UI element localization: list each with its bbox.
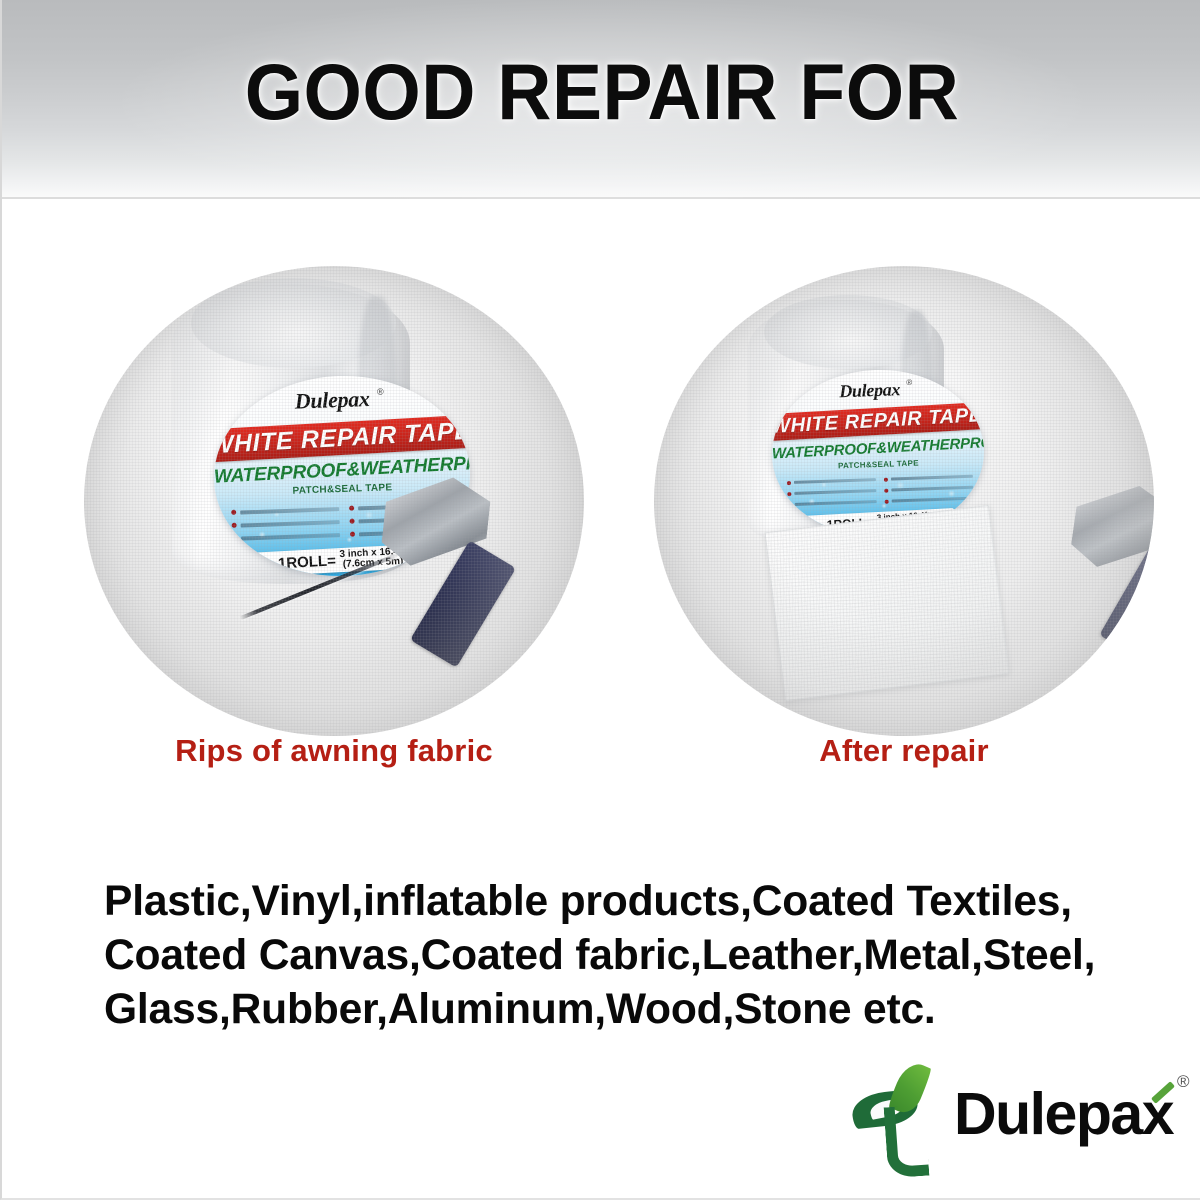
bullet-dot-icon [349, 519, 354, 524]
bullet-dot-icon [788, 503, 792, 507]
label-registered-icon: ® [906, 379, 912, 387]
label-bullet-item [788, 496, 878, 510]
bullet-dot-icon [884, 477, 888, 481]
label-bullet-item [232, 528, 341, 545]
panel-before-repair: Dulepax ® WHITE REPAIR TAPE WATERPROOF&W… [84, 266, 584, 736]
label-brand-name: Dulepax [294, 388, 370, 413]
header-banner: GOOD REPAIR FOR [2, 0, 1200, 199]
label-headline-text: WHITE REPAIR TAPE [771, 404, 983, 439]
bullet-dot-icon [884, 499, 888, 503]
leaf-stem-icon [884, 1105, 930, 1179]
leaf-logo-icon [850, 1062, 942, 1166]
label-bullet-column [231, 502, 341, 546]
bullet-dot-icon [232, 536, 237, 541]
label-size-prefix: 1ROLL= [278, 553, 337, 571]
product-infographic: GOOD REPAIR FOR Dulepax ® WHITE REPAIR T… [0, 0, 1200, 1200]
brand-wordmark: Dulepax [954, 1085, 1173, 1144]
bullet-dot-icon [349, 506, 354, 511]
brand-logo: Dulepax ® [850, 1058, 1150, 1170]
materials-line: Glass,Rubber,Aluminum,Wood,Stone etc. [104, 982, 1134, 1036]
utility-knife [384, 476, 534, 666]
bullet-dot-icon [787, 492, 791, 496]
brand-registered-icon: ® [1177, 1072, 1190, 1092]
bullet-dot-icon [787, 481, 791, 485]
bullet-dot-icon [231, 510, 236, 515]
page-title: GOOD REPAIR FOR [32, 52, 1172, 131]
panel-after-repair: Dulepax ® WHITE REPAIR TAPE WATERPROOF&W… [654, 266, 1154, 736]
circular-photo-before: Dulepax ® WHITE REPAIR TAPE WATERPROOF&W… [84, 266, 584, 736]
repair-tape-patch [764, 505, 1009, 701]
label-bullet-column [787, 474, 877, 510]
label-feature-bullets [787, 471, 974, 510]
label-headline-text: WHITE REPAIR TAPE [211, 417, 472, 461]
caption-before-repair: Rips of awning fabric [84, 733, 584, 769]
brand-wordmark-suffix: x [1142, 1081, 1173, 1147]
materials-line: Coated Canvas,Coated fabric,Leather,Meta… [104, 928, 1134, 982]
bullet-dot-icon [884, 488, 888, 492]
bullet-dot-icon [349, 532, 354, 537]
label-brand-name: Dulepax [839, 380, 900, 400]
compatible-materials-list: Plastic,Vinyl,inflatable products,Coated… [104, 874, 1144, 1036]
utility-knife [1074, 484, 1154, 654]
bullet-dot-icon [232, 523, 237, 528]
label-bullet-item [884, 493, 974, 507]
caption-after-repair: After repair [654, 733, 1154, 769]
brand-wordmark-prefix: Dulepa [954, 1081, 1142, 1147]
circular-photo-after: Dulepax ® WHITE REPAIR TAPE WATERPROOF&W… [654, 266, 1154, 736]
materials-line: Plastic,Vinyl,inflatable products,Coated… [104, 874, 1134, 928]
label-bullet-column [883, 471, 973, 507]
label-registered-icon: ® [377, 387, 384, 396]
